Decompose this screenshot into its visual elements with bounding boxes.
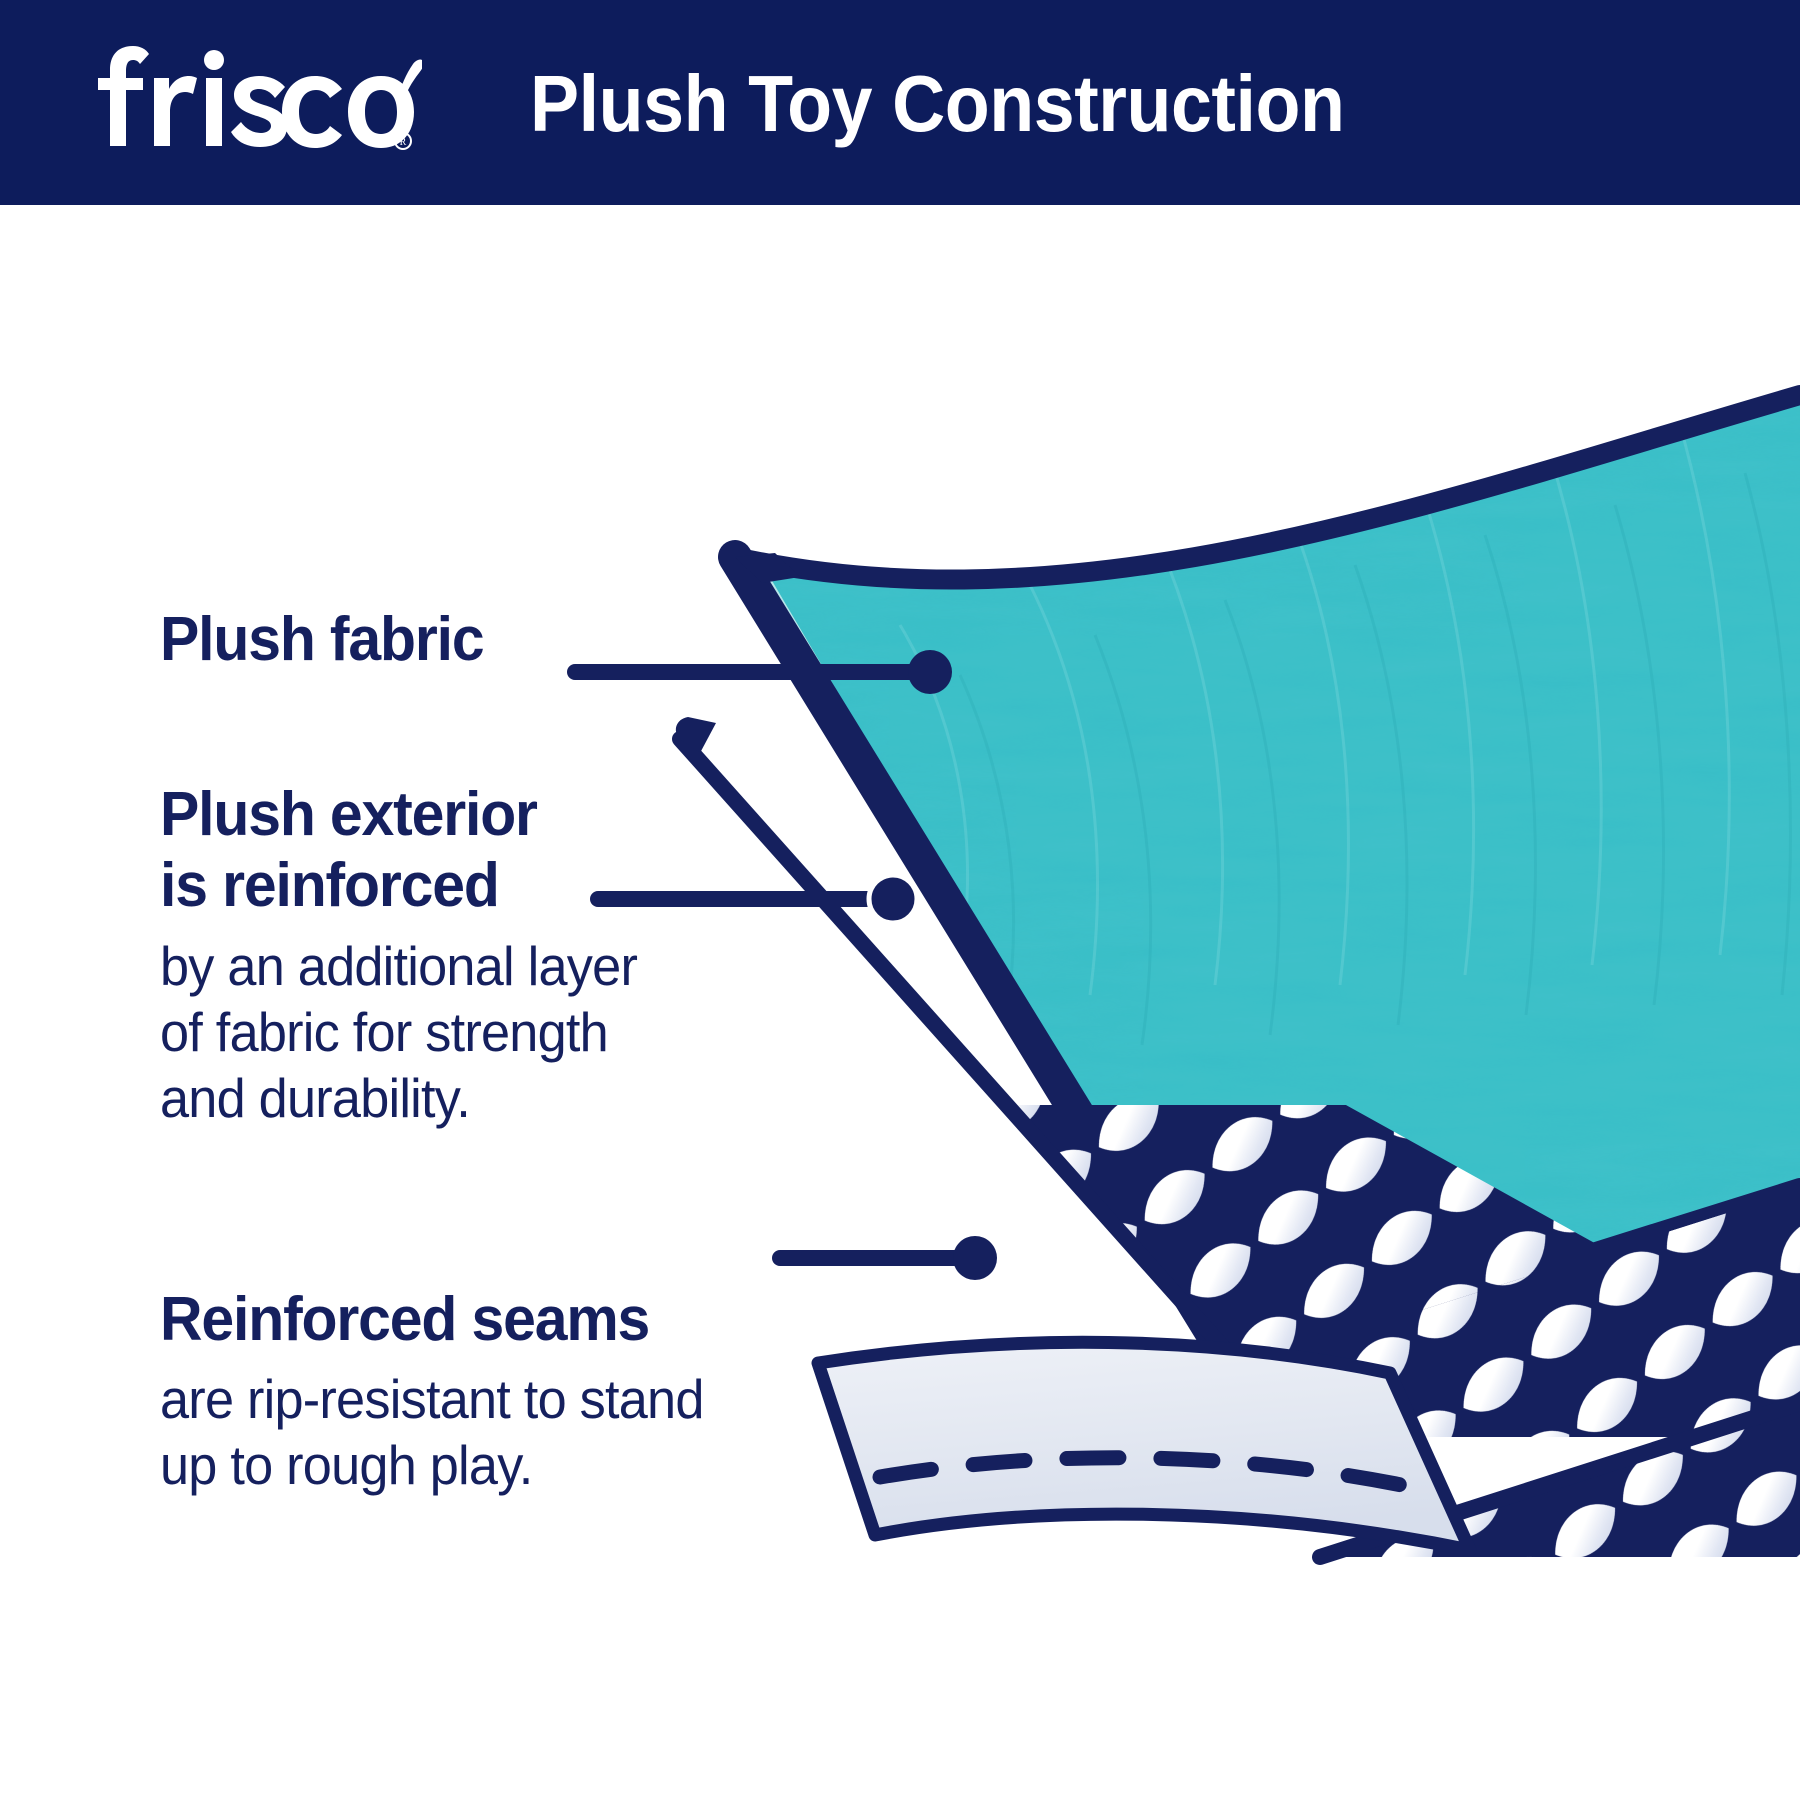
leader-reinforced-seams bbox=[780, 1236, 997, 1280]
svg-text:R: R bbox=[400, 137, 407, 148]
callout-plush-fabric-heading: Plush fabric bbox=[160, 605, 483, 676]
page-title: Plush Toy Construction bbox=[530, 44, 1634, 164]
plush-fabric-marker bbox=[908, 650, 952, 694]
callout-plush-exterior-body-line-2: of fabric for strength bbox=[160, 999, 637, 1065]
reinforced-seams-marker bbox=[953, 1236, 997, 1280]
header-bar: R Plush Toy Construction bbox=[0, 0, 1800, 205]
callout-plush-exterior-body-line-3: and durability. bbox=[160, 1065, 637, 1131]
plush-exterior-marker bbox=[869, 875, 917, 923]
callout-reinforced-seams-body-line-2: up to rough play. bbox=[160, 1432, 704, 1498]
callout-reinforced-seams-body-line-1: are rip-resistant to stand bbox=[160, 1366, 704, 1432]
callout-plush-exterior-heading-line-2: is reinforced bbox=[160, 851, 637, 922]
infographic-page: R Plush Toy Construction bbox=[0, 0, 1800, 1800]
callout-reinforced-seams: Reinforced seams are rip-resistant to st… bbox=[160, 1285, 732, 1498]
callout-plush-exterior-body-line-1: by an additional layer bbox=[160, 933, 637, 999]
frisco-logo: R bbox=[92, 42, 422, 162]
callout-reinforced-seams-heading: Reinforced seams bbox=[160, 1285, 704, 1356]
callout-plush-exterior-heading-line-1: Plush exterior bbox=[160, 780, 637, 851]
seam-flap-layer bbox=[818, 1342, 1470, 1550]
callout-plush-exterior: Plush exterior is reinforced by an addit… bbox=[160, 780, 662, 1131]
callout-plush-fabric: Plush fabric bbox=[160, 605, 500, 676]
